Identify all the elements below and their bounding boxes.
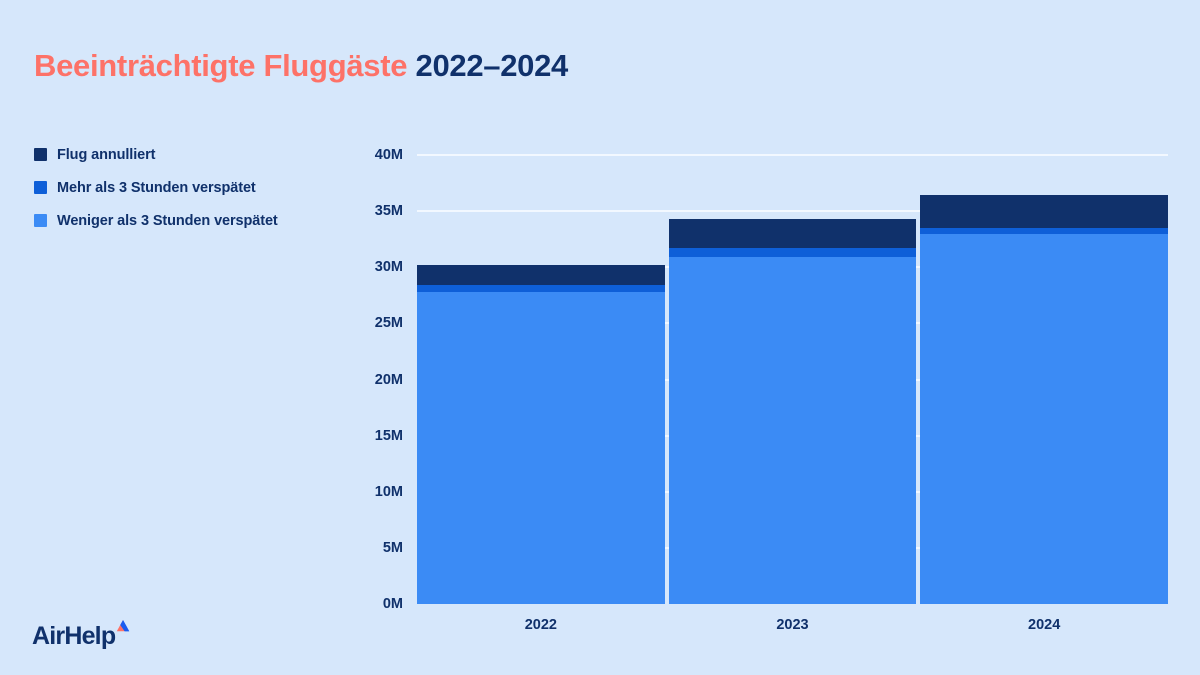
chart-bar[interactable]: 2022: [417, 265, 665, 604]
legend-item-cancelled[interactable]: Flug annulliert: [34, 143, 344, 166]
page-title: Beeinträchtigte Fluggäste 2022–2024: [34, 48, 568, 84]
legend-item-delayed-over-3h[interactable]: Mehr als 3 Stunden verspätet: [34, 176, 344, 199]
legend-item-label: Mehr als 3 Stunden verspätet: [57, 180, 256, 196]
x-axis-tick-label: 2023: [669, 617, 917, 633]
chart-bar[interactable]: 2023: [669, 219, 917, 604]
y-axis-tick-label: 40M: [375, 147, 403, 163]
y-axis-tick-label: 25M: [375, 315, 403, 331]
y-axis-tick-label: 35M: [375, 203, 403, 219]
airhelp-triangle-mark-icon: [116, 620, 130, 634]
gridline: [417, 154, 1168, 156]
page-title-years: 2022–2024: [416, 48, 568, 83]
y-axis-tick-label: 20M: [375, 372, 403, 388]
x-axis-tick-label: 2022: [417, 617, 665, 633]
y-axis-tick-label: 5M: [383, 540, 403, 556]
legend-swatch-icon: [34, 214, 47, 227]
chart-bar[interactable]: 2024: [920, 195, 1168, 604]
y-axis-tick-label: 10M: [375, 484, 403, 500]
chart-bar-segment[interactable]: [920, 195, 1168, 228]
legend-swatch-icon: [34, 181, 47, 194]
chart-bar-segment[interactable]: [417, 265, 665, 285]
legend-item-delayed-under-3h[interactable]: Weniger als 3 Stunden verspätet: [34, 209, 344, 232]
page-title-accent: Beeinträchtigte Fluggäste: [34, 48, 416, 83]
chart-legend: Flug annulliert Mehr als 3 Stunden versp…: [34, 143, 344, 242]
chart-bar-segment[interactable]: [669, 219, 917, 248]
y-axis-tick-label: 15M: [375, 428, 403, 444]
legend-swatch-icon: [34, 148, 47, 161]
stacked-bar-chart: 0M5M10M15M20M25M30M35M40M 202220232024: [355, 140, 1180, 640]
airhelp-wordmark: AirHelp: [32, 624, 115, 649]
chart-bar-segment[interactable]: [669, 248, 917, 257]
chart-plot-area: 0M5M10M15M20M25M30M35M40M 202220232024: [417, 155, 1168, 604]
y-axis-tick-label: 30M: [375, 259, 403, 275]
airhelp-logo: AirHelp: [32, 624, 130, 649]
chart-bar-segment[interactable]: [920, 234, 1168, 604]
chart-bar-segment[interactable]: [417, 285, 665, 292]
legend-item-label: Flug annulliert: [57, 147, 155, 163]
legend-item-label: Weniger als 3 Stunden verspätet: [57, 213, 278, 229]
y-axis-tick-label: 0M: [383, 596, 403, 612]
chart-bar-segment[interactable]: [417, 292, 665, 604]
chart-bar-segment[interactable]: [669, 257, 917, 604]
x-axis-tick-label: 2024: [920, 617, 1168, 633]
